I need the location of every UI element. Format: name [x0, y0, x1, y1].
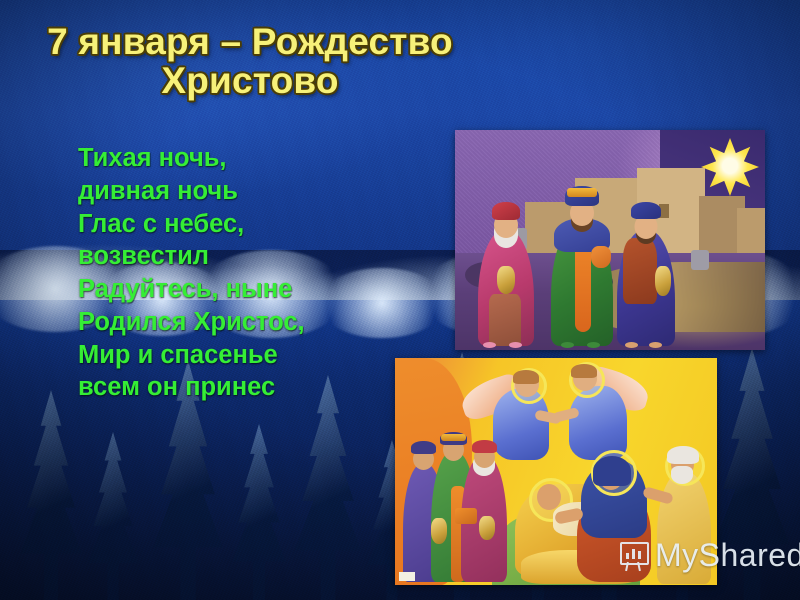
- magus-gift-vessel: [655, 266, 671, 296]
- magus-crimson-cap: [472, 440, 497, 453]
- magus-figure-blue: [613, 196, 679, 346]
- magus-figure-green: [547, 184, 617, 346]
- title-line-2: Христово: [40, 61, 460, 100]
- magus-purple-cap: [411, 441, 436, 454]
- angel-hair: [571, 364, 597, 378]
- joseph-headcloth: [667, 446, 699, 464]
- magus-crown: [567, 188, 597, 197]
- verse-line: Глас с небес,: [78, 208, 378, 241]
- verse-line: всем он принес: [78, 371, 378, 404]
- roadside-rock: [691, 250, 709, 270]
- nativity-gift-vessel: [479, 516, 495, 540]
- angel-hair: [513, 370, 539, 384]
- nativity-holy-family: [515, 454, 675, 585]
- magus-foot: [509, 342, 522, 348]
- presentation-slide: 7 января – Рождество Христово Тихая ночь…: [0, 0, 800, 600]
- nativity-gift-vessel: [431, 518, 447, 544]
- magus-figure-elder: [475, 194, 537, 346]
- title-line-1: 7 января – Рождество: [40, 22, 460, 61]
- nativity-corner-mark: [399, 572, 415, 581]
- magus-foot: [625, 342, 638, 348]
- magus-cap: [492, 202, 520, 220]
- magus-foot: [561, 342, 574, 348]
- verse-line: Радуйтесь, ныне: [78, 273, 378, 306]
- magus-rust-tunic: [623, 238, 657, 304]
- magus-foot: [649, 342, 662, 348]
- verse-line: Тихая ночь,: [78, 142, 378, 175]
- verse-line: дивная ночь: [78, 175, 378, 208]
- joseph-robe: [657, 472, 711, 584]
- image-three-magi-under-star: [455, 130, 765, 350]
- christ-child-head: [537, 484, 561, 510]
- nativity-gift-box: [455, 508, 477, 524]
- verse-line: возвестил: [78, 240, 378, 273]
- magus-foot: [483, 342, 496, 348]
- nativity-magi-group: [403, 432, 511, 582]
- magus-undergown: [489, 294, 521, 346]
- magus-green-crown: [441, 434, 466, 441]
- magus-foot: [587, 342, 600, 348]
- nativity-joseph: [653, 446, 715, 584]
- verse-line: Родился Христос,: [78, 306, 378, 339]
- mary-veil: [593, 456, 631, 486]
- angel-right: [551, 362, 643, 462]
- verse-line: Мир и спасенье: [78, 339, 378, 372]
- magus-gift-vessel: [591, 246, 611, 268]
- joseph-beard: [671, 466, 693, 484]
- slide-verse-text: Тихая ночь, дивная ночь Глас с небес, во…: [78, 142, 378, 404]
- angel-gown: [569, 386, 627, 460]
- magus-gift-vessel: [497, 266, 515, 294]
- image-nativity-with-angels: [395, 358, 717, 585]
- magus-turban: [631, 202, 661, 219]
- slide-title: 7 января – Рождество Христово: [40, 22, 460, 100]
